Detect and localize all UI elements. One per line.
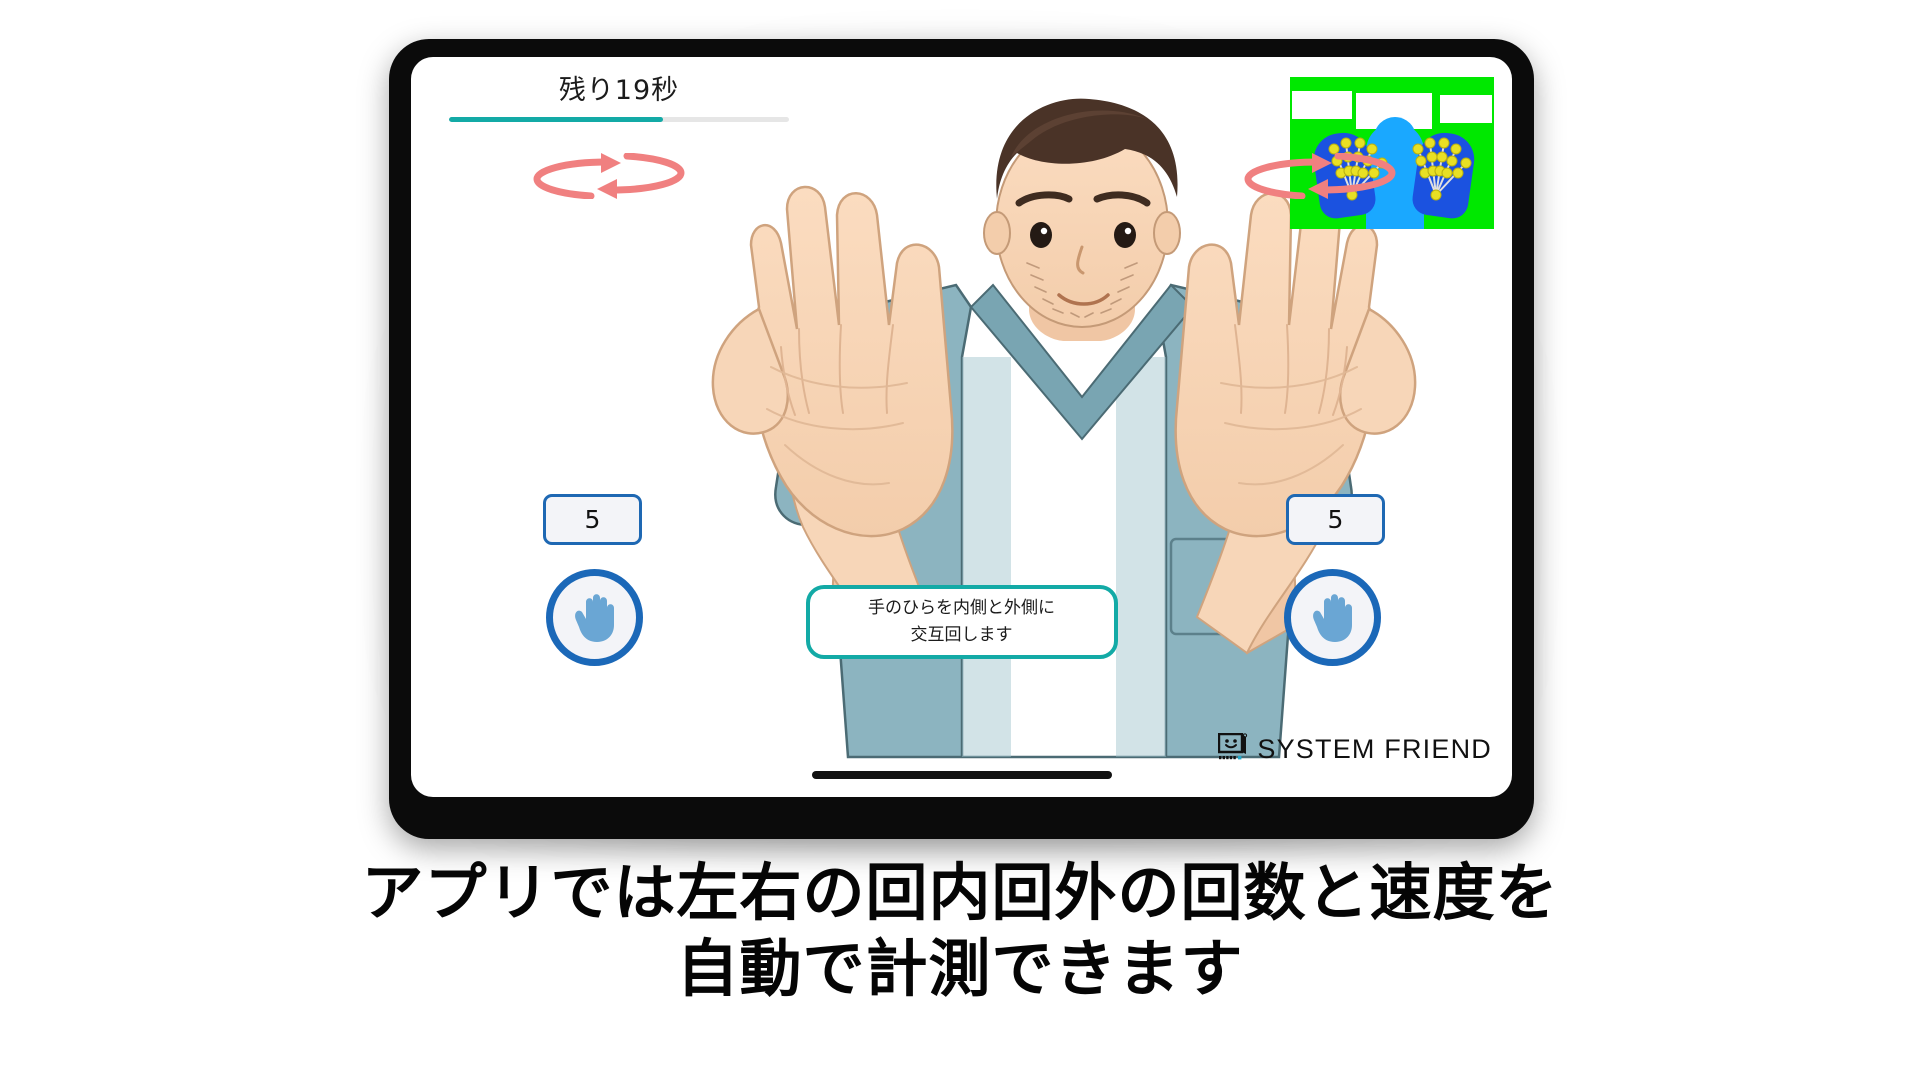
right-hand-button[interactable]: [1284, 569, 1381, 666]
rotation-arrows-icon: [1240, 153, 1400, 199]
timer: 残り19秒: [449, 71, 789, 122]
right-rotation-counter: 5: [1286, 494, 1385, 545]
instruction-line-2: 交互回します: [911, 622, 1013, 649]
hand-icon: [572, 593, 618, 643]
rotation-arrows-icon: [529, 153, 689, 199]
timer-label: 残り19秒: [449, 71, 789, 111]
timer-progress-track: [449, 117, 789, 122]
logo-text: SYSTEM FRIEND: [1257, 734, 1492, 765]
left-rotation-counter: 5: [543, 494, 642, 545]
instruction-line-1: 手のひらを内側と外側に: [868, 595, 1055, 622]
caption-line-2: 自動で計測できます: [0, 931, 1920, 1007]
tablet-screen: 残り19秒: [411, 57, 1512, 797]
right-counter-value: 5: [1328, 505, 1344, 534]
hand-icon: [1310, 593, 1356, 643]
home-indicator[interactable]: [812, 771, 1112, 779]
left-hand-button[interactable]: [546, 569, 643, 666]
instruction-bubble: 手のひらを内側と外側に 交互回します: [806, 585, 1118, 659]
system-friend-logo: SYSTEM FRIEND: [1218, 733, 1492, 765]
caption: アプリでは左右の回内回外の回数と速度を 自動で計測できます: [0, 855, 1920, 1007]
left-counter-value: 5: [585, 505, 601, 534]
smiley-monitor-icon: [1218, 733, 1248, 765]
caption-line-1: アプリでは左右の回内回外の回数と速度を: [0, 855, 1920, 931]
timer-progress-fill: [449, 117, 663, 122]
tablet-device: 残り19秒: [389, 39, 1534, 839]
